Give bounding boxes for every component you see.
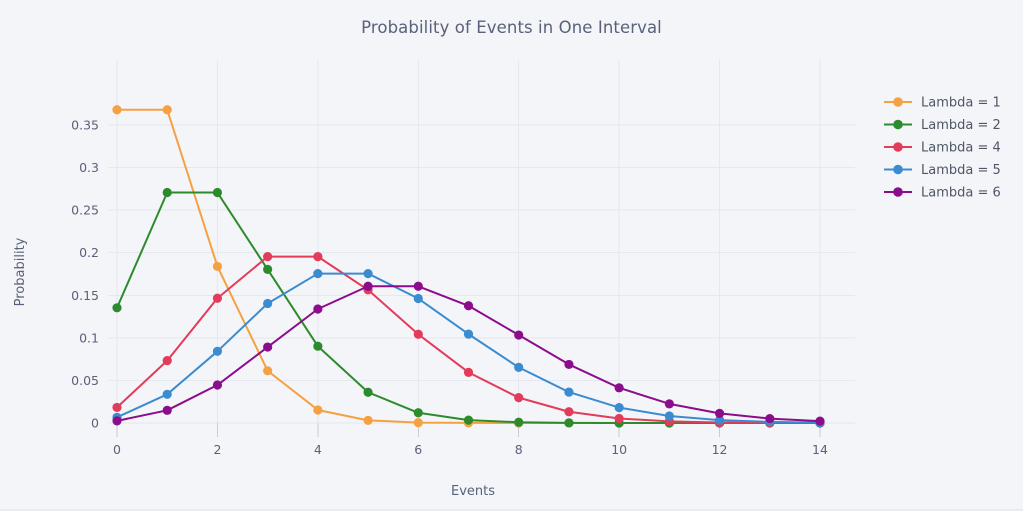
- y-axis-tick-labels: 00.050.10.150.20.250.30.35: [71, 118, 99, 431]
- legend-item-label: Lambda = 4: [921, 141, 1001, 156]
- data-point-marker: [313, 304, 322, 313]
- data-point-marker: [363, 388, 372, 397]
- data-series: [112, 269, 824, 427]
- x-tick-label: 8: [515, 442, 523, 457]
- data-point-marker: [464, 416, 473, 425]
- data-point-marker: [615, 383, 624, 392]
- data-point-marker: [564, 360, 573, 369]
- data-point-marker: [414, 408, 423, 417]
- data-point-marker: [163, 390, 172, 399]
- data-point-marker: [163, 188, 172, 197]
- data-point-marker: [464, 368, 473, 377]
- x-tick-label: 6: [414, 442, 422, 457]
- legend-marker-swatch: [893, 120, 903, 130]
- legend-marker-swatch: [893, 165, 903, 175]
- data-point-marker: [213, 294, 222, 303]
- legend-item[interactable]: Lambda = 6: [884, 186, 1001, 201]
- legend-marker-swatch: [893, 142, 903, 152]
- data-series: [112, 252, 824, 427]
- x-tick-label: 10: [611, 442, 627, 457]
- x-tick-label: 14: [812, 442, 828, 457]
- data-point-marker: [263, 342, 272, 351]
- data-point-marker: [464, 301, 473, 310]
- chart-legend[interactable]: Lambda = 1Lambda = 2Lambda = 4Lambda = 5…: [884, 96, 1001, 201]
- legend-item[interactable]: Lambda = 5: [884, 163, 1001, 178]
- data-point-marker: [263, 265, 272, 274]
- legend-item-label: Lambda = 6: [921, 186, 1001, 201]
- data-point-marker: [514, 393, 523, 402]
- data-point-marker: [163, 105, 172, 114]
- data-point-marker: [112, 416, 121, 425]
- y-tick-label: 0.35: [71, 118, 99, 133]
- y-tick-label: 0.05: [71, 373, 99, 388]
- y-tick-label: 0.1: [79, 330, 99, 345]
- data-point-marker: [112, 403, 121, 412]
- data-point-marker: [665, 411, 674, 420]
- data-point-marker: [564, 387, 573, 396]
- legend-item-label: Lambda = 2: [921, 118, 1001, 133]
- x-axis-title: Events: [451, 484, 495, 499]
- data-point-marker: [313, 405, 322, 414]
- y-tick-label: 0.3: [79, 160, 99, 175]
- x-tick-label: 4: [314, 442, 322, 457]
- data-point-marker: [163, 406, 172, 415]
- chart-plot-area: 00.050.10.150.20.250.30.35 02468101214 E…: [0, 0, 1023, 511]
- data-point-marker: [213, 262, 222, 271]
- data-point-marker: [213, 188, 222, 197]
- data-point-marker: [263, 299, 272, 308]
- data-point-marker: [414, 418, 423, 427]
- y-tick-label: 0: [91, 416, 99, 431]
- y-tick-label: 0.15: [71, 288, 99, 303]
- data-point-marker: [313, 342, 322, 351]
- data-point-marker: [615, 414, 624, 423]
- data-point-marker: [363, 282, 372, 291]
- data-point-marker: [112, 303, 121, 312]
- data-series-group: [112, 105, 824, 427]
- y-tick-label: 0.25: [71, 203, 99, 218]
- legend-item[interactable]: Lambda = 2: [884, 118, 1001, 133]
- data-point-marker: [665, 399, 674, 408]
- data-point-marker: [112, 105, 121, 114]
- data-point-marker: [263, 252, 272, 261]
- data-point-marker: [414, 330, 423, 339]
- legend-item-label: Lambda = 1: [921, 96, 1001, 111]
- data-point-marker: [564, 407, 573, 416]
- data-series: [112, 105, 824, 427]
- x-tick-label: 12: [712, 442, 728, 457]
- data-point-marker: [514, 330, 523, 339]
- data-point-marker: [765, 414, 774, 423]
- legend-marker-swatch: [893, 187, 903, 197]
- data-point-marker: [313, 269, 322, 278]
- data-point-marker: [213, 380, 222, 389]
- x-tick-label: 0: [113, 442, 121, 457]
- legend-item[interactable]: Lambda = 1: [884, 96, 1001, 111]
- data-point-marker: [564, 418, 573, 427]
- data-point-marker: [514, 418, 523, 427]
- chart-container: Probability of Events in One Interval 00…: [0, 0, 1023, 511]
- data-point-marker: [715, 409, 724, 418]
- legend-item-label: Lambda = 5: [921, 163, 1001, 178]
- series-line: [117, 257, 820, 423]
- data-point-marker: [464, 330, 473, 339]
- data-point-marker: [363, 269, 372, 278]
- data-point-marker: [313, 252, 322, 261]
- data-point-marker: [213, 347, 222, 356]
- data-point-marker: [263, 366, 272, 375]
- x-tick-label: 2: [213, 442, 221, 457]
- data-point-marker: [414, 294, 423, 303]
- data-point-marker: [815, 417, 824, 426]
- series-line: [117, 274, 820, 423]
- x-axis-tick-labels: 02468101214: [113, 442, 828, 457]
- data-point-marker: [615, 403, 624, 412]
- data-point-marker: [514, 363, 523, 372]
- data-point-marker: [163, 356, 172, 365]
- legend-marker-swatch: [893, 97, 903, 107]
- y-axis-title: Probability: [13, 237, 28, 306]
- legend-item[interactable]: Lambda = 4: [884, 141, 1001, 156]
- data-point-marker: [414, 282, 423, 291]
- y-tick-label: 0.2: [79, 245, 99, 260]
- data-point-marker: [363, 416, 372, 425]
